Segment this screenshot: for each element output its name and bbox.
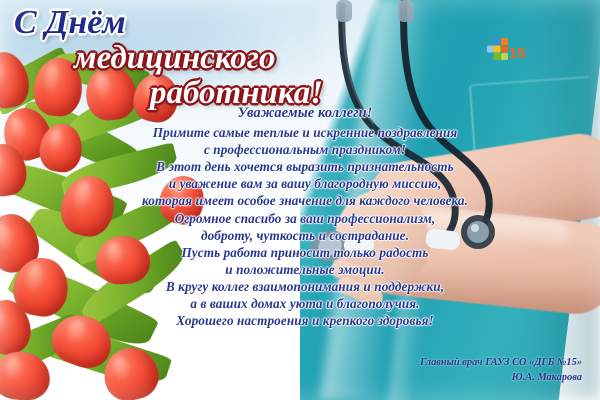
message-line: Хорошего настроения и крепкого здоровья! xyxy=(70,312,540,329)
message-line: В этот день хочется выразить признательн… xyxy=(70,158,540,175)
signature-position: Главный врач ГАУЗ СО «ДГБ №15» xyxy=(420,355,582,371)
card-title: С Днём медицинского работника! xyxy=(0,0,420,110)
signature-name: Ю.А. Макарова xyxy=(420,370,582,386)
message-line: с профессиональным праздником! xyxy=(70,141,540,158)
signature-block: Главный врач ГАУЗ СО «ДГБ №15» Ю.А. Мака… xyxy=(420,355,582,386)
title-line-1: С Днём xyxy=(14,6,420,40)
logo-number: 15 xyxy=(509,45,526,62)
message-line: Уважаемые коллеги! xyxy=(70,104,540,123)
message-line: которая имеет особое значение для каждог… xyxy=(70,192,540,209)
message-line: а в ваших домах уюта и благополучия. xyxy=(70,295,540,312)
message-line: Пусть работа приносит только радость xyxy=(70,244,540,261)
message-line: В кругу коллег взаимопонимания и поддерж… xyxy=(70,278,540,295)
message-line: Примите самые теплые и искренние поздрав… xyxy=(70,124,540,141)
message-line: Огромное спасибо за ваш профессионализм, xyxy=(70,210,540,227)
greeting-message: Уважаемые коллеги! Примите самые теплые … xyxy=(70,104,540,330)
clinic-logo: 15 xyxy=(487,36,527,62)
message-line: и положительные эмоции. xyxy=(70,261,540,278)
greeting-card: С Днём медицинского работника! 15 Уважае… xyxy=(0,0,600,400)
title-line-2: медицинского xyxy=(74,42,420,75)
medical-cross-logo-icon: 15 xyxy=(487,36,527,62)
message-line: доброту, чуткость и сострадание. xyxy=(70,227,540,244)
message-line: и уважение вам за вашу благородную мисси… xyxy=(70,175,540,192)
